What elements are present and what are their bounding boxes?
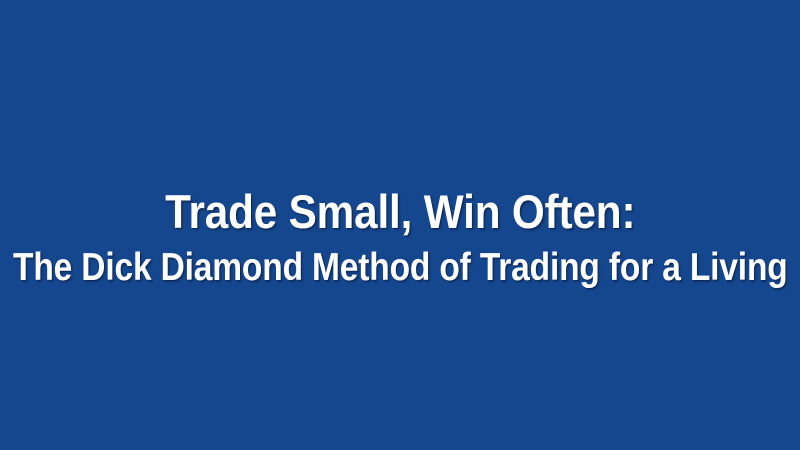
title-line-primary: Trade Small, Win Often:: [165, 188, 635, 235]
title-block: Trade Small, Win Often: The Dick Diamond…: [0, 188, 800, 287]
title-line-secondary: The Dick Diamond Method of Trading for a…: [13, 248, 788, 287]
title-slide: Trade Small, Win Often: The Dick Diamond…: [0, 0, 800, 450]
